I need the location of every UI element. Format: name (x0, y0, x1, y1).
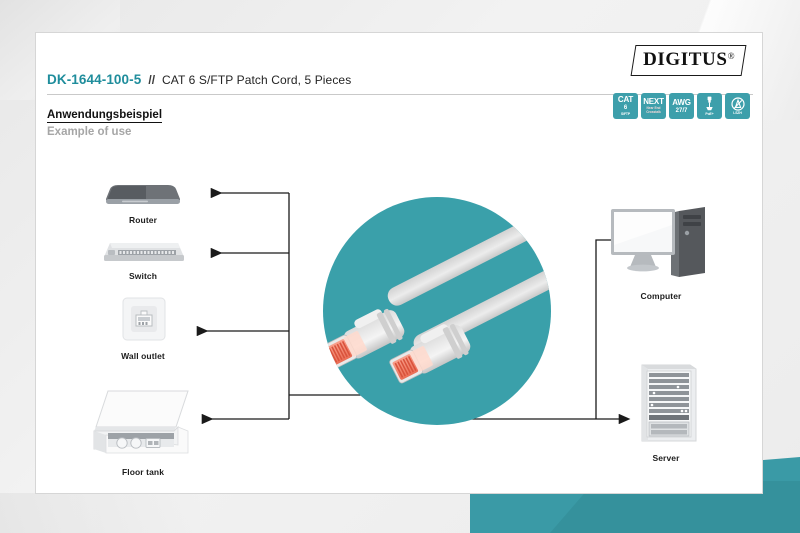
page-root: DIGITUS® DK-1644-100-5 // CAT 6 S/FTP Pa… (0, 0, 800, 533)
product-sku: DK-1644-100-5 (47, 72, 141, 87)
lszh-badge: LSZH (725, 93, 750, 119)
next-badge: NEXT Near End Crosstalk (641, 93, 666, 119)
registered-trademark-icon: ® (728, 51, 735, 61)
device-label-computer: Computer (601, 291, 721, 301)
server-icon (616, 355, 716, 447)
device-floor-tank: Floor tank (78, 383, 208, 477)
content-card: DIGITUS® DK-1644-100-5 // CAT 6 S/FTP Pa… (35, 32, 763, 494)
device-label-floor-tank: Floor tank (78, 467, 208, 477)
next-badge-line1: NEXT (643, 98, 664, 106)
device-computer: Computer (601, 205, 721, 301)
cat6-badge-line3: S/FTP (621, 113, 630, 116)
device-label-switch: Switch (88, 271, 198, 281)
next-badge-line3: Crosstalk (646, 111, 661, 114)
cat6-badge: CAT 6 S/FTP (613, 93, 638, 119)
awg-badge-line2: 27/7 (676, 108, 688, 114)
patch-cord-image (323, 197, 551, 425)
title-separator: // (148, 73, 155, 87)
lszh-circle-icon (731, 97, 745, 111)
section-heading-english: Example of use (47, 126, 131, 138)
lszh-badge-label: LSZH (733, 112, 741, 115)
device-router: Router (88, 183, 198, 225)
computer-icon (601, 205, 721, 285)
device-switch: Switch (88, 237, 198, 281)
floor-tank-icon (78, 383, 208, 461)
product-title-row: DK-1644-100-5 // CAT 6 S/FTP Patch Cord,… (47, 72, 753, 95)
poe-badge-label: PoE+ (705, 113, 713, 116)
device-label-router: Router (88, 215, 198, 225)
poe-badge: PoE+ (697, 93, 722, 119)
switch-icon (88, 237, 198, 265)
wall-outlet-icon (88, 295, 198, 345)
background-wedge-bottom-left (0, 493, 200, 533)
device-wall-outlet: Wall outlet (88, 295, 198, 361)
awg-badge: AWG 27/7 (669, 93, 694, 119)
router-icon (88, 183, 198, 209)
section-heading-german: Anwendungsbeispiel (47, 109, 162, 123)
cat6-badge-line1: CAT (618, 96, 633, 104)
device-label-wall-outlet: Wall outlet (88, 351, 198, 361)
page-title: CAT 6 S/FTP Patch Cord, 5 Pieces (162, 73, 351, 87)
application-diagram: Router (36, 145, 764, 493)
awg-badge-line1: AWG (672, 99, 691, 107)
logo-wordmark: DIGITUS (643, 49, 727, 71)
certification-badges: CAT 6 S/FTP NEXT Near End Crosstalk AWG … (613, 93, 750, 119)
poe-plug-icon (703, 96, 716, 111)
device-label-server: Server (616, 453, 716, 463)
device-server: Server (616, 355, 716, 463)
cat6-badge-line2: 6 (624, 105, 627, 111)
